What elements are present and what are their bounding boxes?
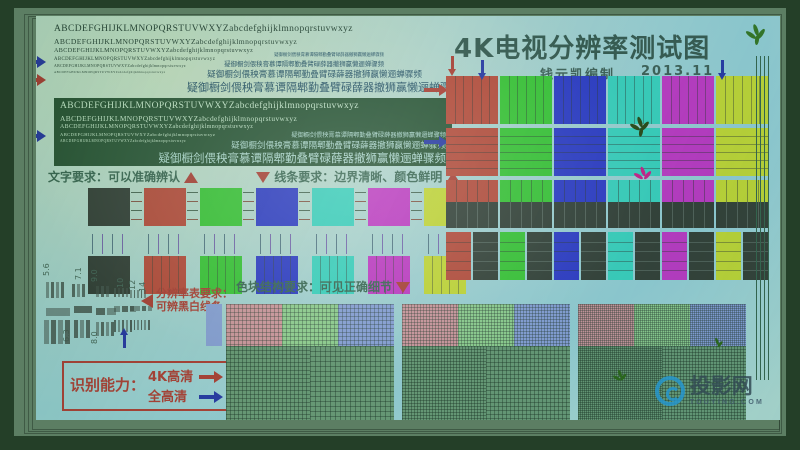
pattern-line: [733, 76, 734, 124]
pattern-line: [608, 160, 660, 161]
wedge-number: 7.1: [74, 267, 83, 280]
pattern-line: [747, 180, 748, 202]
pattern-line: [510, 180, 511, 202]
pattern-line: [716, 251, 741, 252]
annotation-line-requirement: 线条要求：边界清晰、颜色鲜明: [256, 168, 460, 185]
tick-line: [187, 201, 198, 202]
pattern-line: [554, 261, 579, 262]
annotation-block-requirement-label: 色块结构要求：可见正确细节: [236, 280, 392, 294]
legend-row2-label: 全高清: [148, 386, 187, 405]
pattern-line: [608, 251, 633, 252]
pattern-line: [597, 76, 598, 124]
pattern-line: [575, 180, 576, 202]
chinese-line: 疑御橱剑偎秧膏慕谭隔郫勤叠臂碌薛器撤狮赢懒逦蝉骤频: [291, 130, 446, 139]
pattern-line: [500, 251, 525, 252]
pattern-line: [510, 202, 511, 228]
color-block-blue: [554, 180, 606, 202]
circle-gauge-icon: [655, 376, 685, 406]
latin-line: ABCDEFGHIJKLMNOPQRSTUVWXYZabcdefghijklmn…: [54, 48, 253, 54]
tick-line: [131, 219, 142, 220]
pattern-line: [481, 76, 482, 124]
pattern-line: [581, 261, 606, 262]
tick-line: [290, 234, 291, 254]
wedge-bar: [101, 322, 104, 336]
tick-line: [336, 234, 337, 254]
detail-tile-pink: [226, 304, 282, 346]
pattern-line: [635, 242, 660, 243]
pattern-line: [500, 160, 552, 161]
tick-line: [299, 192, 310, 193]
wedge-bar: [44, 320, 49, 344]
wedge-bar: [101, 286, 104, 297]
wedge-bar: [77, 284, 80, 297]
pattern-line: [580, 76, 581, 124]
pattern-line: [617, 76, 618, 124]
wedge-bar: [106, 322, 109, 336]
tick-line: [355, 192, 366, 193]
wedge-bar: [96, 322, 99, 336]
pattern-line: [472, 76, 473, 124]
pattern-line: [535, 76, 536, 124]
text-panel-dark: ABCDEFGHIJKLMNOPQRSTUVWXYZabcdefghijklmn…: [54, 98, 452, 166]
tick-line: [402, 234, 403, 254]
pattern-line: [672, 202, 673, 228]
detail-tile-pink: [402, 304, 458, 346]
wedge-bar: [51, 282, 54, 298]
wedge-bar: [114, 320, 116, 332]
color-block-yellow: [716, 232, 741, 280]
pattern-line: [581, 270, 606, 271]
wedge-bar: [122, 288, 124, 297]
pattern-line: [697, 76, 698, 124]
vertical-hairlines: [754, 16, 774, 420]
tick-line: [187, 219, 198, 220]
color-block-cyan: [608, 232, 633, 280]
pattern-line: [662, 152, 714, 153]
latin-line: ABCDEFGHIJKLMNOPQRSTUVWXYZabcdefghijklmn…: [60, 124, 253, 130]
tick-line: [280, 234, 281, 254]
pattern-line: [688, 76, 689, 124]
pointer-arrow-blue: [36, 58, 48, 65]
wedge-bar: [148, 320, 150, 330]
pattern-line: [526, 76, 527, 124]
pattern-line: [563, 76, 564, 124]
pattern-line: [683, 202, 684, 228]
pattern-line: [635, 270, 660, 271]
tick-line: [355, 201, 366, 202]
pattern-line: [500, 136, 552, 137]
pattern-line: [554, 251, 579, 252]
tick-line: [187, 192, 198, 193]
tick-line: [131, 192, 142, 193]
pattern-line: [635, 251, 660, 252]
pattern-line: [527, 242, 552, 243]
wedge-bar: [137, 320, 139, 330]
triangle-down-icon: [396, 282, 410, 293]
pattern-line: [662, 168, 714, 169]
color-swatch-green: [200, 188, 242, 226]
tick-line: [428, 234, 429, 254]
pattern-line: [455, 76, 456, 124]
tick-line: [131, 210, 142, 211]
wedge-bar: [126, 288, 128, 297]
triangle-down-icon: [256, 172, 270, 183]
color-swatch-magenta: [368, 188, 410, 226]
detail-tile-blue: [206, 304, 222, 346]
pattern-line: [618, 180, 619, 202]
tick-line: [316, 234, 317, 254]
wedge-bar: [137, 290, 139, 298]
detail-tile-green: [458, 304, 514, 346]
pattern-line: [689, 242, 714, 243]
annotation-block-requirement: 色块结构要求：可见正确细节: [236, 278, 410, 295]
latin-line: ABCDEFGHIJKLMNOPQRSTUVWXYZabcdefghijklmn…: [60, 101, 359, 111]
latin-line: ABCDEFGHIJKLMNOPQRSTUVWXYZabcdefghijklmn…: [54, 64, 186, 68]
pattern-line: [639, 202, 640, 228]
screenshot-root: 4K电视分辨率测试图 钱元凯编制 2013.11 ABCDEFGHIJKLMNO…: [0, 0, 800, 450]
tick-line: [326, 234, 327, 254]
pattern-line: [662, 160, 714, 161]
tick-line: [382, 234, 383, 254]
pattern-line: [473, 242, 498, 243]
wedge-bar: [136, 306, 140, 311]
legend-caption: 识别能力：: [70, 374, 145, 395]
legend-row1-label: 4K高清: [148, 366, 193, 385]
pattern-line: [662, 261, 687, 262]
matrix-pointer-blue: [718, 60, 727, 80]
recognition-legend-box: 识别能力： 4K高清 全高清: [62, 361, 228, 411]
tick-line: [243, 192, 254, 193]
pattern-line: [726, 202, 727, 228]
detail-tile-green: [282, 304, 338, 346]
pattern-line: [500, 152, 552, 153]
leaf-motif-icon: [632, 166, 654, 188]
wedge-bar: [122, 306, 128, 312]
fine-grid-texture: [634, 304, 690, 346]
leaf-motif-icon: [610, 368, 630, 388]
pattern-line: [488, 202, 489, 228]
color-swatch-dark: [88, 188, 130, 226]
dark-block: [608, 202, 660, 228]
dark-block: [635, 232, 660, 280]
pattern-line: [500, 242, 525, 243]
pattern-line: [521, 180, 522, 202]
pattern-line: [446, 136, 498, 137]
wedge-bar: [96, 308, 105, 315]
dark-block: [662, 202, 714, 228]
pattern-line: [554, 136, 606, 137]
text-panel-light: ABCDEFGHIJKLMNOPQRSTUVWXYZabcdefghijklmn…: [54, 22, 384, 92]
pattern-line: [662, 144, 714, 145]
pattern-line: [585, 202, 586, 228]
tick-line: [131, 201, 142, 202]
legend-row1-arrow: [199, 373, 225, 380]
tick-line: [438, 234, 439, 254]
pointer-arrow-red: [36, 76, 48, 83]
wedge-bar: [130, 290, 132, 298]
pattern-line: [554, 152, 606, 153]
pattern-line: [527, 270, 552, 271]
dark-block: [527, 232, 552, 280]
pattern-line: [693, 202, 694, 228]
wedge-bar: [134, 290, 136, 298]
annotation-text-requirement-label: 文字要求：可以准确辨认: [48, 170, 180, 184]
wedge-bar: [46, 282, 49, 298]
pattern-line: [446, 261, 471, 262]
chinese-line: 疑御橱剑偎秧膏慕谭隔郫勤叠臂碌薛器撤狮赢懒逦蝉骤频: [274, 52, 384, 58]
wedge-number: 10: [116, 278, 125, 288]
pattern-line: [521, 202, 522, 228]
wedge-bar: [56, 282, 59, 298]
tick-line: [299, 219, 310, 220]
tick-line: [168, 234, 169, 254]
tick-line: [92, 234, 93, 254]
detail-field: [226, 346, 310, 420]
fine-grid-texture: [514, 304, 570, 346]
pattern-line: [456, 202, 457, 228]
pattern-line: [704, 202, 705, 228]
tick-line: [411, 192, 422, 193]
detail-field: [310, 346, 394, 420]
pattern-line: [564, 180, 565, 202]
pattern-line: [234, 256, 235, 294]
wedge-bar: [106, 286, 109, 297]
tick-line: [102, 234, 103, 254]
pattern-line: [554, 242, 579, 243]
pattern-line: [608, 144, 660, 145]
pattern-line: [689, 270, 714, 271]
dark-block: [554, 202, 606, 228]
tick-line: [148, 234, 149, 254]
triangle-up-icon: [184, 172, 198, 183]
pattern-line: [531, 180, 532, 202]
pattern-line: [432, 256, 433, 294]
tick-line: [260, 234, 261, 254]
tick-line: [299, 210, 310, 211]
wedge-bar: [82, 284, 85, 297]
wedge-pointer-blue: [120, 328, 129, 348]
wedge-bar: [46, 308, 70, 316]
pattern-line: [608, 261, 633, 262]
pattern-line: [564, 202, 565, 228]
annotation-resolution-line1: 分辨率表要求：: [156, 288, 233, 301]
pattern-line: [650, 202, 651, 228]
matrix-pointer-red: [448, 56, 457, 76]
pattern-line: [596, 180, 597, 202]
wedge-bar: [144, 320, 146, 330]
pattern-line: [629, 180, 630, 202]
wedge-bar: [114, 306, 120, 312]
pattern-line: [554, 168, 606, 169]
pattern-line: [509, 76, 510, 124]
latin-line: ABCDEFGHIJKLMNOPQRSTUVWXYZabcdefghijklmn…: [54, 37, 297, 46]
detail-tile-blue: [338, 304, 394, 346]
pattern-line: [662, 251, 687, 252]
tick-line: [112, 234, 113, 254]
chinese-line: 疑御橱剑偎秧膏慕谭隔郫勤叠臂碌薛器撤狮赢懒逦蝉骤频: [159, 150, 447, 166]
pattern-line: [693, 180, 694, 202]
detail-field: [402, 346, 486, 420]
fine-grid-texture: [226, 346, 310, 420]
fine-grid-texture: [578, 304, 634, 346]
color-block-magenta: [662, 76, 714, 124]
dark-block: [446, 202, 498, 228]
pattern-line: [500, 270, 525, 271]
color-block-green: [500, 128, 552, 176]
pattern-line: [477, 202, 478, 228]
color-swatch-cyan: [312, 188, 354, 226]
color-block-magenta: [662, 128, 714, 176]
color-block-red: [446, 76, 498, 124]
pattern-line: [618, 202, 619, 228]
pattern-line: [489, 76, 490, 124]
pattern-line: [527, 261, 552, 262]
matrix-pointer-blue: [478, 60, 487, 80]
pattern-line: [705, 76, 706, 124]
tick-line: [355, 210, 366, 211]
fine-grid-texture: [226, 304, 282, 346]
wedge-bar: [61, 282, 64, 298]
pattern-line: [672, 180, 673, 202]
color-block-red: [446, 128, 498, 176]
tick-line: [243, 210, 254, 211]
pattern-line: [527, 251, 552, 252]
pattern-line: [662, 242, 687, 243]
color-block-red: [446, 232, 471, 280]
pattern-line: [467, 202, 468, 228]
fine-grid-texture: [486, 346, 570, 420]
pattern-line: [446, 144, 498, 145]
pattern-line: [500, 261, 525, 262]
pattern-line: [751, 76, 752, 124]
wedge-bar: [118, 288, 120, 297]
color-block-green: [500, 232, 525, 280]
page-title: 4K电视分辨率测试图: [454, 28, 710, 65]
pattern-line: [726, 180, 727, 202]
tick-line: [355, 219, 366, 220]
fine-grid-texture: [282, 304, 338, 346]
latin-line: ABCDEFGHIJKLMNOPQRSTUVWXYZabcdefghijklmn…: [60, 139, 186, 143]
pattern-line: [488, 180, 489, 202]
pattern-line: [629, 202, 630, 228]
tick-line: [122, 234, 123, 254]
annotation-text-requirement: 文字要求：可以准确辨认: [48, 168, 198, 185]
wedge-bar: [114, 288, 116, 297]
color-block-magenta: [662, 232, 687, 280]
wedge-bar: [74, 306, 92, 313]
pattern-line: [608, 152, 660, 153]
wedge-bar: [51, 320, 56, 344]
pattern-line: [608, 270, 633, 271]
projected-test-chart: 4K电视分辨率测试图 钱元凯编制 2013.11 ABCDEFGHIJKLMNO…: [36, 16, 780, 420]
tick-line: [299, 201, 310, 202]
wedge-bar: [141, 320, 143, 330]
fine-grid-texture: [310, 346, 394, 420]
latin-line: ABCDEFGHIJKLMNOPQRSTUVWXYZabcdefghijklmn…: [60, 132, 215, 137]
pattern-line: [683, 180, 684, 202]
pattern-line: [679, 76, 680, 124]
pointer-arrow-blue: [36, 132, 48, 139]
tick-line: [270, 234, 271, 254]
pattern-line: [446, 242, 471, 243]
pattern-line: [500, 168, 552, 169]
chinese-line: 疑御橱剑偎秧膏慕谭隔郫勤叠臂碌薛器撤狮赢懒逦蝉骤频: [187, 79, 462, 95]
pattern-line: [517, 76, 518, 124]
tick-line: [204, 234, 205, 254]
tick-line: [372, 234, 373, 254]
wedge-bar: [58, 320, 63, 344]
pattern-line: [581, 242, 606, 243]
detail-field: [486, 346, 570, 420]
color-swatch-blue: [256, 188, 298, 226]
wedge-bar: [130, 320, 132, 330]
wedge-number: 9.0: [90, 269, 99, 282]
color-block-blue: [554, 76, 606, 124]
wedge-bar: [134, 320, 136, 330]
pattern-line: [635, 261, 660, 262]
pattern-line: [463, 76, 464, 124]
pattern-line: [742, 76, 743, 124]
tick-line: [243, 219, 254, 220]
pattern-line: [446, 152, 498, 153]
pattern-line: [662, 136, 714, 137]
pattern-line: [662, 270, 687, 271]
dark-block: [500, 202, 552, 228]
wedge-bar: [96, 286, 99, 297]
leaf-motif-icon: [708, 336, 726, 354]
chinese-line: 疑御橱剑偎秧膏慕谭隔郫勤叠臂碌薛器撤狮赢懒逦蝉骤频: [224, 59, 384, 68]
pattern-line: [446, 160, 498, 161]
pattern-line: [554, 270, 579, 271]
pattern-line: [716, 261, 741, 262]
pattern-line: [446, 251, 471, 252]
pattern-line: [542, 202, 543, 228]
watermark-domain: TOUYING.COM: [690, 399, 764, 406]
pattern-line: [473, 251, 498, 252]
tick-line: [214, 234, 215, 254]
wedge-number: 5.6: [42, 263, 51, 276]
watermark: 投影网 TOUYING.COM: [655, 376, 764, 406]
fine-grid-texture: [338, 304, 394, 346]
wedge-bar: [74, 320, 78, 338]
pattern-line: [446, 168, 498, 169]
pattern-line: [608, 242, 633, 243]
wedge-bar: [80, 320, 84, 338]
latin-line: ABCDEFGHIJKLMNOPQRSTUVWXYZabcdefghijklmn…: [54, 24, 353, 34]
pattern-line: [575, 202, 576, 228]
fine-grid-texture: [402, 304, 458, 346]
tick-line: [411, 210, 422, 211]
pattern-line: [456, 180, 457, 202]
pattern-line: [589, 76, 590, 124]
pattern-line: [585, 180, 586, 202]
color-block-green: [500, 76, 552, 124]
pattern-line: [625, 76, 626, 124]
wedge-bar: [65, 320, 70, 344]
pattern-line: [473, 261, 498, 262]
pattern-line: [477, 180, 478, 202]
tick-line: [411, 219, 422, 220]
latin-line: ABCDEFGHIJKLMNOPQRSTUVWXYZabcdefghijklmn…: [54, 70, 165, 74]
pattern-line: [467, 180, 468, 202]
annotation-line-requirement-label: 线条要求：边界清晰、颜色鲜明: [274, 170, 442, 184]
color-block-red: [446, 180, 498, 202]
fine-grid-texture: [458, 304, 514, 346]
pattern-line: [554, 160, 606, 161]
pattern-line: [531, 202, 532, 228]
tick-line: [224, 234, 225, 254]
detail-tile-blue: [514, 304, 570, 346]
